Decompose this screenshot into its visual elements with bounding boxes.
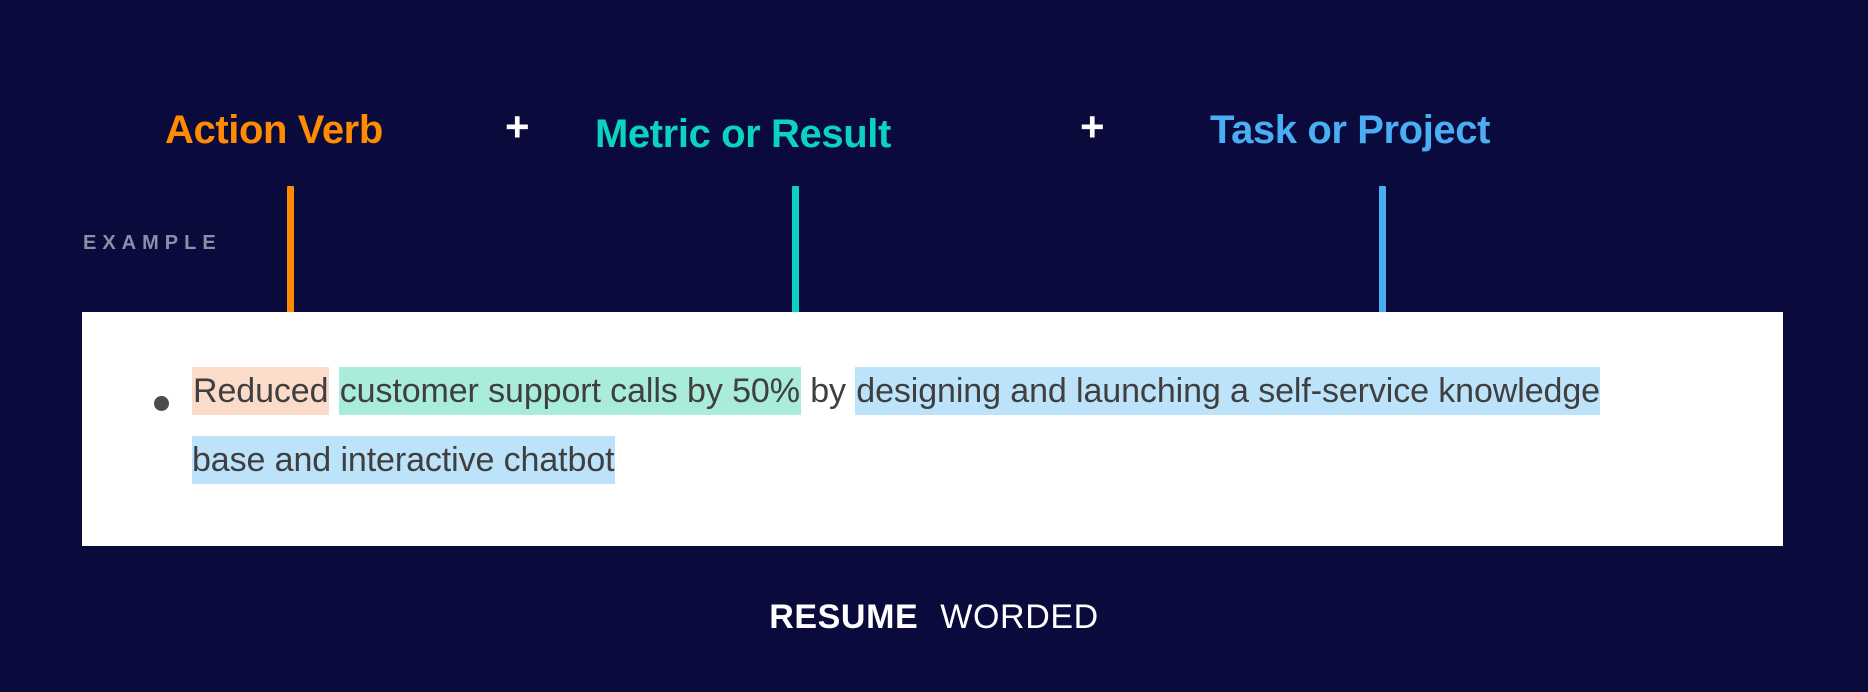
brand-word-resume: RESUME — [769, 598, 918, 636]
example-label: EXAMPLE — [83, 233, 222, 253]
formula-part-metric-or-result: Metric or Result — [595, 114, 891, 154]
highlight-action-verb: Reduced — [192, 367, 329, 415]
plus-icon: + — [1080, 106, 1104, 148]
bullet-marker-icon — [154, 396, 169, 411]
formula-part-action-verb: Action Verb — [165, 110, 383, 150]
text-connector-by: by — [801, 372, 855, 410]
example-card: Reduced customer support calls by 50% by… — [82, 312, 1783, 546]
text-gap — [329, 372, 338, 410]
bullet-text: Reduced customer support calls by 50% by… — [192, 357, 1672, 495]
plus-icon: + — [505, 106, 529, 148]
brand-logo: RESUMEWORDED — [0, 600, 1868, 634]
highlight-metric-or-result: customer support calls by 50% — [339, 367, 801, 415]
brand-word-worded: WORDED — [940, 598, 1098, 636]
formula-header: Action Verb + Metric or Result + Task or… — [0, 96, 1868, 166]
infographic-root: { "theme": { "background": "#0a0a3c", "c… — [0, 0, 1868, 692]
formula-part-task-or-project: Task or Project — [1210, 110, 1490, 150]
